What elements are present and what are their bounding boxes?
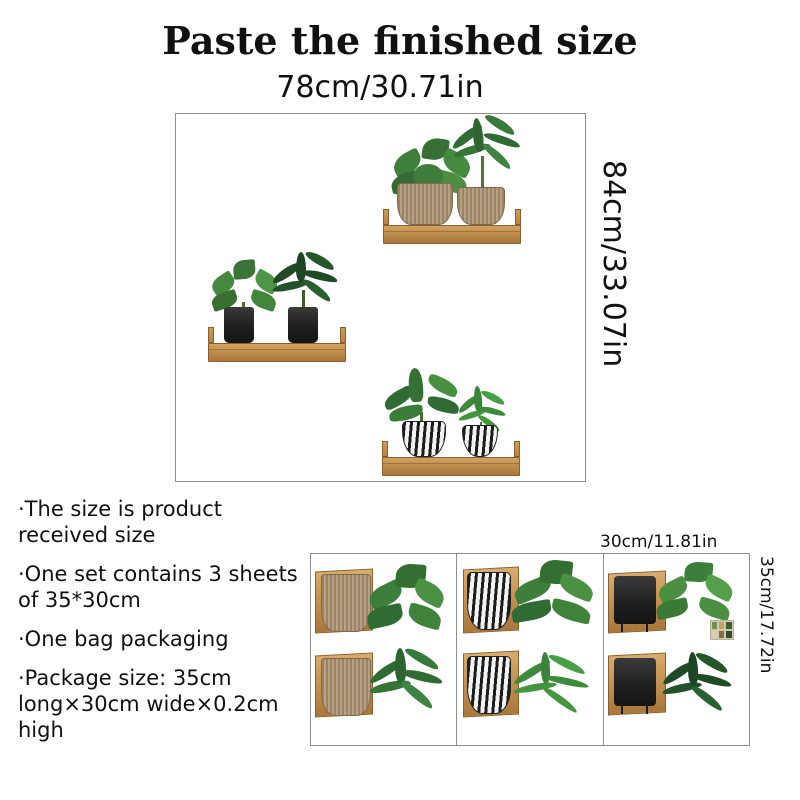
rattan-pot-left: [397, 183, 453, 225]
shelf-board-middle: [208, 343, 346, 362]
middle-shelf: [208, 244, 346, 362]
bullet-item-3: ·One bag packaging: [18, 626, 318, 652]
striped-pot-left: [402, 421, 446, 457]
black-pot-right: [288, 307, 318, 343]
main-preview-frame: [175, 113, 586, 482]
bullet-item-4: ·Package size: 35cm long×30cm wide×0.2cm…: [18, 665, 318, 743]
sheet1-rattan-basket-top: [321, 574, 371, 632]
shelf-lip-right-bottom: [514, 441, 520, 457]
shelf-lip-left-middle: [208, 327, 214, 343]
sheet1-palm: [367, 646, 445, 742]
sheet-2: [457, 554, 603, 745]
black-pot-left: [224, 307, 254, 343]
bottom-shelf: [382, 362, 520, 476]
sheets-panel: [310, 553, 750, 746]
sheet1-rattan-basket-bottom: [321, 658, 371, 716]
shelf-board-top: [383, 225, 521, 244]
striped-pot-right: [462, 425, 498, 457]
sheet2-fern: [511, 650, 591, 742]
sheet2-striped-pot-bottom: [467, 656, 511, 714]
shelf-lip-right-top: [515, 209, 521, 225]
sheets-width-label: 30cm/11.81in: [600, 532, 717, 552]
rattan-pot-right: [457, 187, 505, 225]
sheet-3: [604, 554, 749, 745]
sheet1-monstera: [369, 560, 441, 644]
preview-height-label: 84cm/33.07in: [596, 160, 631, 367]
shelf-lip-left-bottom: [382, 441, 388, 457]
sheet2-monstera: [511, 558, 591, 640]
sheet3-black-pot-top: [614, 576, 656, 624]
bullet-item-2: ·One set contains 3 sheets of 35*30cm: [18, 561, 318, 613]
shelf-lip-left-top: [383, 209, 389, 225]
top-shelf: [383, 134, 521, 244]
preview-width-label: 78cm/30.71in: [175, 70, 585, 105]
sheet-1: [311, 554, 457, 745]
sheets-height-label: 35cm/17.72in: [756, 556, 776, 673]
page-root: Paste the finished size 78cm/30.71in 84c…: [0, 0, 800, 800]
sheet2-striped-pot-top: [467, 572, 511, 630]
color-swatch-grid: [710, 620, 734, 640]
shelf-lip-right-middle: [340, 327, 346, 343]
sheet3-cycad: [660, 650, 736, 742]
sheet3-black-pot-bottom: [614, 658, 656, 706]
bullet-item-1: ·The size is product received size: [18, 496, 318, 548]
page-title: Paste the finished size: [0, 18, 800, 63]
info-bullet-list: ·The size is product received size ·One …: [18, 496, 318, 756]
shelf-board-bottom: [382, 457, 520, 476]
